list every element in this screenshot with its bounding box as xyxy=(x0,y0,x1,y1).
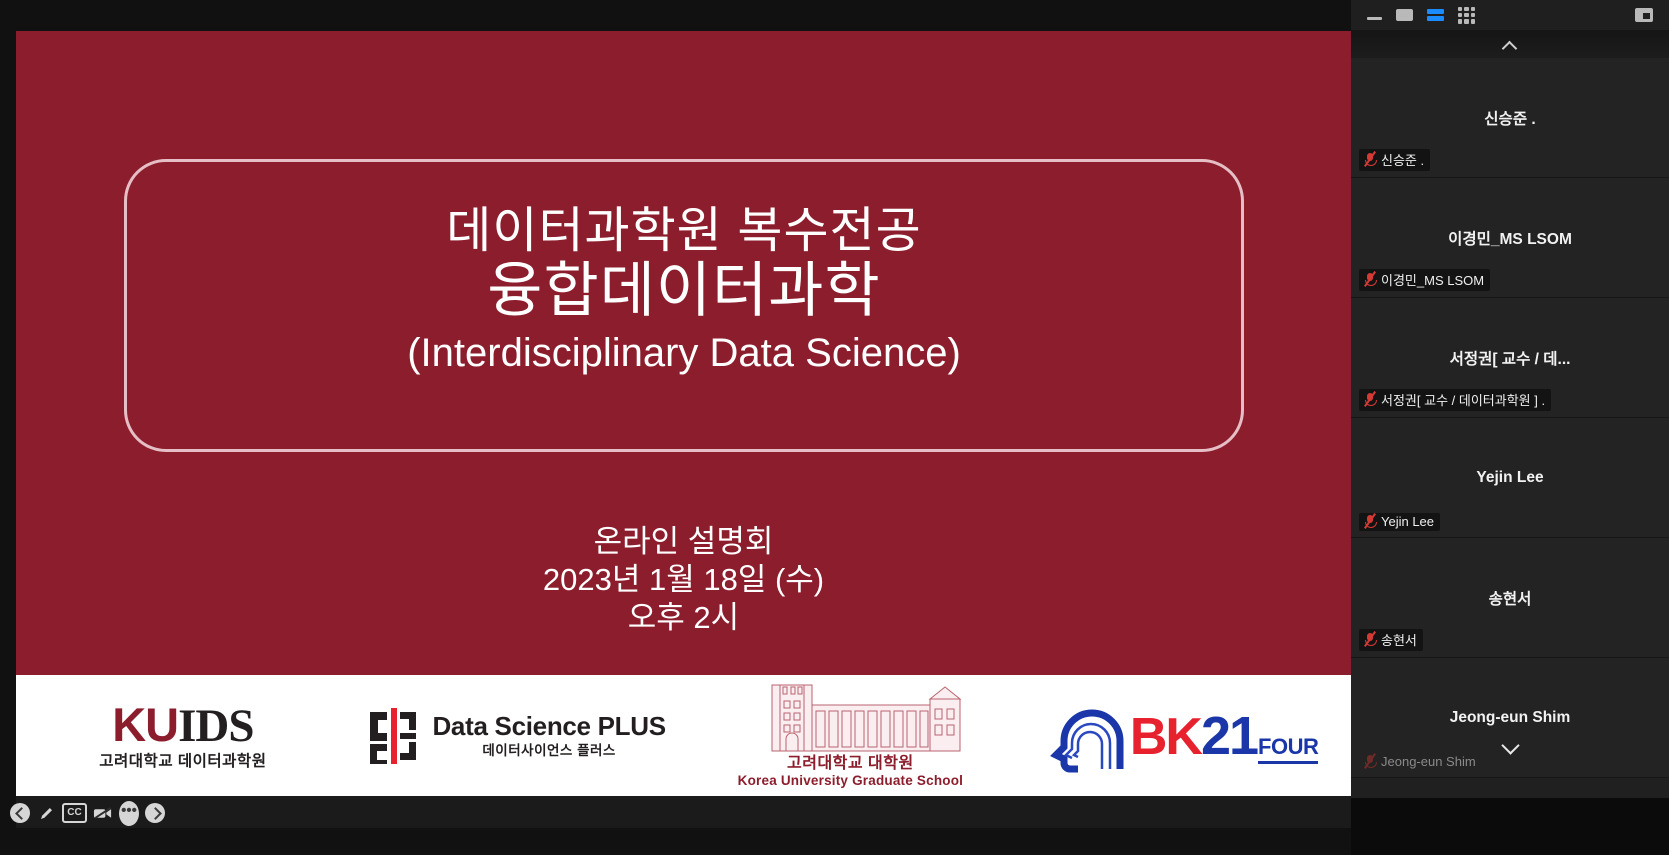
slide-meta-line2: 2023년 1월 18일 (수) xyxy=(16,561,1351,599)
kuids-ku: KU xyxy=(112,698,178,751)
participant-tile[interactable]: 신승준 .신승준 . xyxy=(1351,58,1669,178)
logo-data-science-plus: Data Science PLUS 데이터사이언스 플러스 xyxy=(350,675,684,796)
minimize-icon[interactable] xyxy=(1367,11,1382,20)
bottom-letterbox xyxy=(0,828,1351,855)
participant-tag-label: 이경민_MS LSOM xyxy=(1381,270,1484,289)
participant-tile[interactable]: 이경민_MS LSOM이경민_MS LSOM xyxy=(1351,178,1669,298)
slide-meta-line1: 온라인 설명회 xyxy=(16,523,1351,561)
participant-tile[interactable]: 서정권[ 교수 / 데...서정권[ 교수 / 데이터과학원 ] . xyxy=(1351,298,1669,418)
participant-name-tag: 신승준 . xyxy=(1359,149,1430,171)
picture-in-picture-icon[interactable] xyxy=(1635,8,1653,22)
participant-name-tag: 송현서 xyxy=(1359,629,1423,651)
zoom-meeting-window: 데이터과학원 복수전공 융합데이터과학 (Interdisciplinary D… xyxy=(0,0,1669,855)
ku-graduate-school-korean: 고려대학교 대학원 xyxy=(787,756,914,772)
slide-footer-logos: KUIDS 고려대학교 데이터과학원 xyxy=(16,675,1351,796)
slide-meta-block: 온라인 설명회 2023년 1월 18일 (수) 오후 2시 xyxy=(16,523,1351,636)
bk21-bk: BK xyxy=(1130,707,1201,767)
slide-title-line2: 융합데이터과학 xyxy=(127,257,1241,324)
video-off-icon[interactable] xyxy=(93,803,113,823)
speaker-view-icon[interactable] xyxy=(1427,9,1444,22)
collapse-filmstrip-button[interactable] xyxy=(1351,30,1669,58)
ku-main-hall-building-icon xyxy=(736,683,964,753)
participant-name: 서정권[ 교수 / 데... xyxy=(1351,347,1669,369)
participant-tile[interactable]: 송현서송현서 xyxy=(1351,538,1669,658)
logo-bk21-four: BK 21 FOUR xyxy=(1017,675,1351,796)
microphone-muted-icon xyxy=(1363,272,1376,287)
participant-tag-label: 서정권[ 교수 / 데이터과학원 ] . xyxy=(1381,390,1545,409)
participant-filmstrip[interactable]: 신승준 .신승준 .이경민_MS LSOM이경민_MS LSOM서정권[ 교수 … xyxy=(1351,58,1669,798)
more-options-icon[interactable]: ••• xyxy=(119,801,139,826)
logo-kuids: KUIDS 고려대학교 데이터과학원 xyxy=(16,675,350,796)
bk21-number: 21 xyxy=(1201,705,1257,767)
participant-name-tag: Yejin Lee xyxy=(1359,513,1440,531)
gallery-view-icon[interactable] xyxy=(1458,7,1475,24)
participant-name-tag: 이경민_MS LSOM xyxy=(1359,269,1490,291)
bk21-head-profile-icon xyxy=(1050,699,1128,773)
slide-meta-line3: 오후 2시 xyxy=(16,599,1351,637)
microphone-muted-icon xyxy=(1363,514,1376,529)
ku-graduate-school-english: Korea University Graduate School xyxy=(738,774,963,788)
kuids-subtitle: 고려대학교 데이터과학원 xyxy=(99,754,266,770)
arrow-left-icon[interactable] xyxy=(10,803,30,823)
slide-title-line3: (Interdisciplinary Data Science) xyxy=(127,328,1241,378)
arrow-right-icon[interactable] xyxy=(145,803,165,823)
chevron-up-icon xyxy=(1503,37,1518,52)
participant-name: 이경민_MS LSOM xyxy=(1351,227,1669,249)
data-science-plus-subtitle: 데이터사이언스 플러스 xyxy=(432,744,665,758)
participant-tag-label: Yejin Lee xyxy=(1381,514,1434,529)
shared-screen-stage: 데이터과학원 복수전공 융합데이터과학 (Interdisciplinary D… xyxy=(16,31,1351,796)
participant-tile[interactable]: Yejin LeeYejin Lee xyxy=(1351,418,1669,538)
title-block: 데이터과학원 복수전공 융합데이터과학 (Interdisciplinary D… xyxy=(127,204,1241,378)
top-letterbox xyxy=(0,0,1351,31)
right-bottom-letterbox xyxy=(1351,798,1669,855)
slide-content: 데이터과학원 복수전공 융합데이터과학 (Interdisciplinary D… xyxy=(16,31,1351,675)
microphone-muted-icon xyxy=(1363,392,1376,407)
participant-name: 신승준 . xyxy=(1351,107,1669,129)
title-frame: 데이터과학원 복수전공 융합데이터과학 (Interdisciplinary D… xyxy=(124,159,1244,452)
participant-tag-label: 신승준 . xyxy=(1381,150,1424,169)
left-letterbox xyxy=(0,0,16,855)
window-controls-bar[interactable] xyxy=(1351,0,1669,30)
microphone-muted-icon xyxy=(1363,152,1376,167)
participant-name: Jeong-eun Shim xyxy=(1351,709,1669,727)
kuids-ids: IDS xyxy=(178,700,253,752)
participant-name: Yejin Lee xyxy=(1351,469,1669,487)
logo-ku-graduate-school: 고려대학교 대학원 Korea University Graduate Scho… xyxy=(684,675,1018,796)
participant-name-tag: 서정권[ 교수 / 데이터과학원 ] . xyxy=(1359,389,1551,411)
filmstrip-scroll-down-button[interactable] xyxy=(1351,728,1669,762)
maximize-icon[interactable] xyxy=(1396,9,1413,21)
bk21-four: FOUR xyxy=(1258,734,1318,764)
participant-tag-label: 송현서 xyxy=(1381,630,1417,649)
kuids-wordmark: KUIDS xyxy=(112,701,253,750)
closed-captions-icon[interactable]: CC xyxy=(62,803,87,823)
chevron-down-icon xyxy=(1501,736,1519,754)
microphone-muted-icon xyxy=(1363,632,1376,647)
participant-name: 송현서 xyxy=(1351,587,1669,609)
pencil-icon[interactable] xyxy=(36,803,56,823)
slide-title-line1: 데이터과학원 복수전공 xyxy=(127,204,1241,259)
data-science-plus-title: Data Science PLUS xyxy=(432,713,665,739)
annotation-toolbar[interactable]: CC ••• xyxy=(10,800,138,826)
data-science-plus-mark-icon xyxy=(367,708,419,764)
